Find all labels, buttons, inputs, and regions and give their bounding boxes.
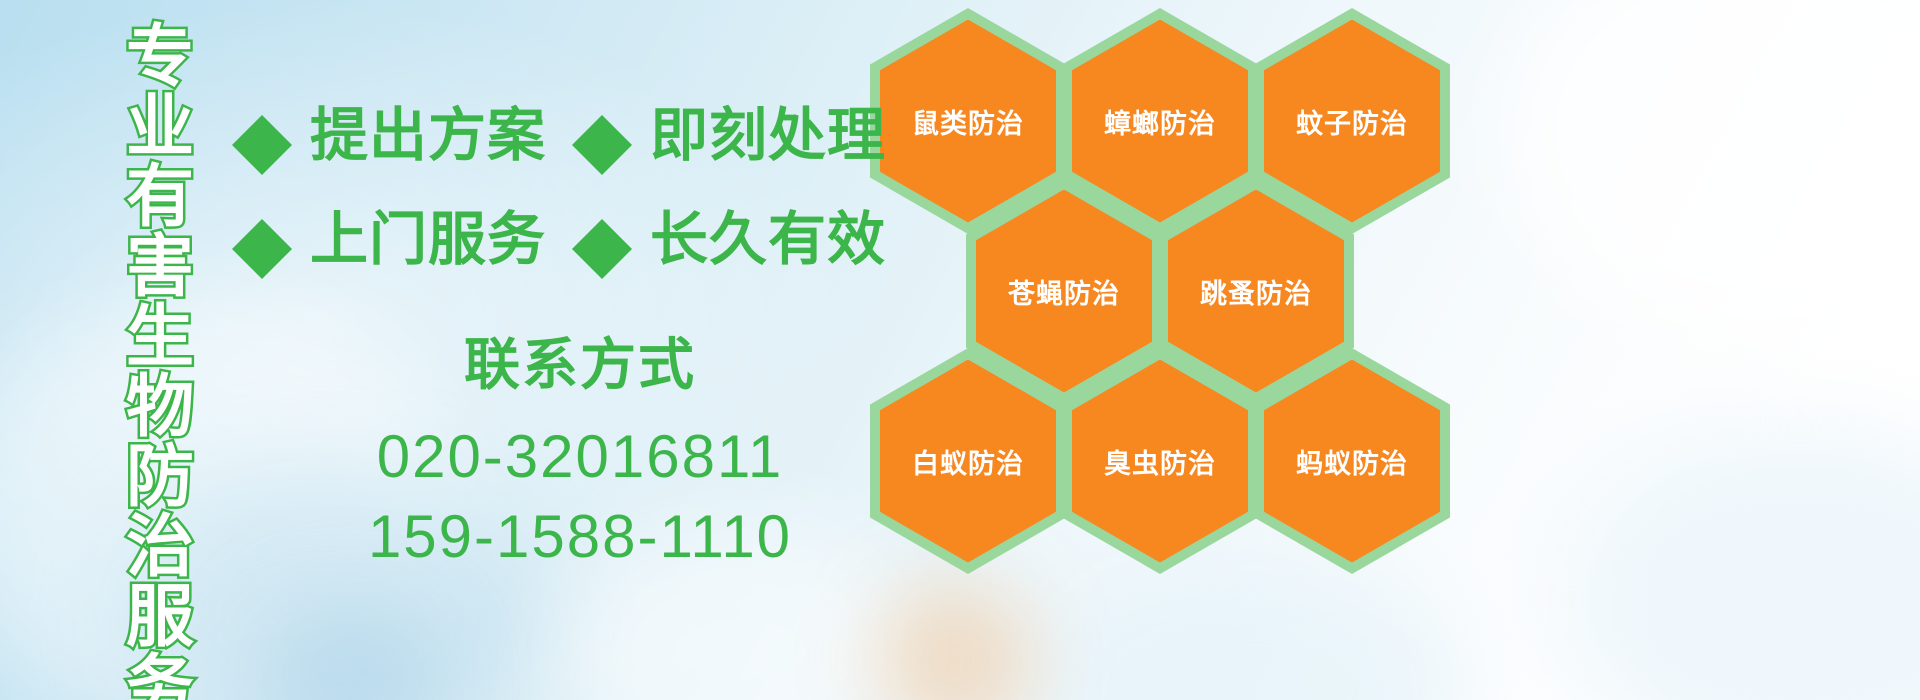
feature-item-door-to-door-service: 上门服务 (232, 192, 546, 276)
service-hex-label: 白蚁防治 (912, 442, 1024, 481)
hex-inner-fill: 鼠类防治 (880, 20, 1056, 223)
feature-item-propose-plan: 提出方案 (232, 88, 546, 172)
feature-row: 上门服务 长久有效 (232, 182, 872, 286)
vertical-headline-char: 治 (126, 512, 194, 582)
vertical-headline-char: 专 (126, 22, 194, 92)
background-blur-blob (260, 600, 440, 700)
contact-title: 联系方式 (300, 320, 860, 401)
vertical-headline-char: 物 (126, 372, 194, 442)
service-hex-label: 蚂蚁防治 (1296, 442, 1408, 481)
service-hex-label: 苍蝇防治 (1008, 272, 1120, 311)
diamond-bullet-icon (232, 85, 292, 145)
vertical-headline-char: 害 (126, 232, 194, 302)
service-hex-label: 臭虫防治 (1104, 442, 1216, 481)
background-blur-blob (880, 585, 1030, 700)
background-blur-blob (1040, 560, 1460, 700)
vertical-headline-char: 生 (126, 302, 194, 372)
contact-block: 联系方式 020-32016811 159-1588-1110 (300, 320, 860, 577)
vertical-headline-char: 业 (126, 92, 194, 162)
hex-inner-fill: 臭虫防治 (1072, 360, 1248, 563)
hex-inner-fill: 蚊子防治 (1264, 20, 1440, 223)
diamond-bullet-icon (232, 189, 292, 249)
vertical-headline-char: 防 (126, 442, 194, 512)
vertical-headline: 专 业 有 害 生 物 防 治 服 务 (112, 22, 208, 662)
service-hex-label: 蟑螂防治 (1104, 102, 1216, 141)
feature-item-immediate-handling: 即刻处理 (572, 88, 886, 172)
hex-inner-fill: 苍蝇防治 (976, 190, 1152, 393)
feature-list: 提出方案 即刻处理 上门服务 长久有效 (232, 78, 872, 286)
vertical-headline-char: 有 (126, 162, 194, 232)
promo-banner: 专 业 有 害 生 物 防 治 服 务 提出方案 即刻处理 上门服务 (0, 0, 1920, 700)
service-hex-label: 鼠类防治 (912, 102, 1024, 141)
vertical-headline-char: 服 (126, 582, 194, 652)
feature-label: 长久有效 (650, 192, 886, 276)
service-hex-label: 跳蚤防治 (1200, 272, 1312, 311)
background-blur-blob (1560, 420, 1920, 700)
feature-label: 上门服务 (310, 192, 546, 276)
hex-inner-fill: 蟑螂防治 (1072, 20, 1248, 223)
feature-label: 提出方案 (310, 88, 546, 172)
vertical-headline-char: 务 (126, 652, 194, 700)
feature-label: 即刻处理 (650, 88, 886, 172)
background-blur-blob (1500, 0, 1920, 340)
diamond-bullet-icon (572, 85, 632, 145)
hex-inner-fill: 跳蚤防治 (1168, 190, 1344, 393)
service-honeycomb-grid: 鼠类防治 蟑螂防治 蚊子防治 苍蝇防治 跳蚤防治 白蚁防治 (862, 0, 1462, 560)
hex-inner-fill: 蚂蚁防治 (1264, 360, 1440, 563)
contact-phone-mobile[interactable]: 159-1588-1110 (300, 497, 860, 577)
feature-item-long-lasting-effect: 长久有效 (572, 192, 886, 276)
contact-phone-landline[interactable]: 020-32016811 (300, 417, 860, 497)
feature-row: 提出方案 即刻处理 (232, 78, 872, 182)
diamond-bullet-icon (572, 189, 632, 249)
service-hex-label: 蚊子防治 (1296, 102, 1408, 141)
hex-inner-fill: 白蚁防治 (880, 360, 1056, 563)
